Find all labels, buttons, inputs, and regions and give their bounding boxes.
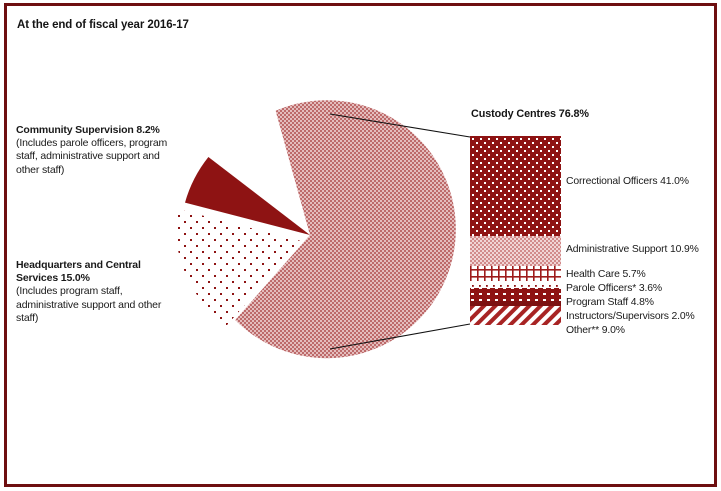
pie-svg bbox=[150, 100, 470, 365]
breakout-label-health-care: Health Care 5.7% bbox=[566, 269, 646, 280]
breakout-bar-svg bbox=[470, 136, 561, 325]
bar-segment-correctional-officers bbox=[470, 136, 561, 236]
breakout-stacked-bar bbox=[470, 136, 561, 325]
breakout-label-parole-officers: Parole Officers* 3.6% bbox=[566, 283, 662, 294]
chart-figure: At the end of fiscal year 2016-17 Commun… bbox=[0, 0, 721, 491]
bar-segment-parole-officers bbox=[470, 281, 561, 288]
pie-label-headquarters: Headquarters and Central Services 15.0% … bbox=[16, 259, 168, 325]
pie-label-community-supervision-note: (Includes parole officers, program staff… bbox=[16, 137, 168, 177]
pie-label-headquarters-note: (Includes program staff, administrative … bbox=[16, 285, 168, 325]
pie-chart bbox=[150, 100, 470, 365]
bar-segment-program-staff bbox=[470, 288, 561, 301]
breakout-label-other: Other** 9.0% bbox=[566, 325, 625, 336]
breakout-label-correctional-officers: Correctional Officers 41.0% bbox=[566, 176, 689, 187]
bar-segment-instructors-supervisors bbox=[470, 301, 561, 306]
bar-segment-health-care bbox=[470, 266, 561, 281]
breakout-title: Custody Centres 76.8% bbox=[471, 108, 589, 120]
chart-title: At the end of fiscal year 2016-17 bbox=[17, 19, 189, 31]
breakout-label-administrative-support: Administrative Support 10.9% bbox=[566, 244, 699, 255]
bar-segment-other bbox=[470, 306, 561, 325]
pie-label-community-supervision-head: Community Supervision 8.2% bbox=[16, 124, 168, 137]
pie-slice-custody-centres bbox=[235, 100, 456, 358]
breakout-label-program-staff: Program Staff 4.8% bbox=[566, 297, 654, 308]
pie-label-community-supervision: Community Supervision 8.2% (Includes par… bbox=[16, 124, 168, 177]
pie-label-headquarters-head: Headquarters and Central Services 15.0% bbox=[16, 259, 168, 285]
bar-segment-administrative-support bbox=[470, 236, 561, 266]
breakout-label-instructors-supervisors: Instructors/Supervisors 2.0% bbox=[566, 311, 695, 322]
